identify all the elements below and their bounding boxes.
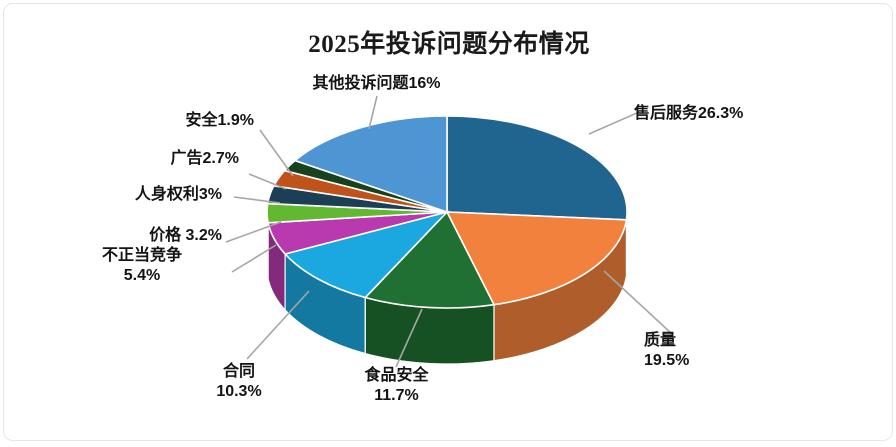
pie-slice-售后服务[interactable] bbox=[447, 116, 627, 220]
leader-line-after-sales bbox=[589, 112, 639, 134]
label-after-sales: 售后服务26.3% bbox=[634, 104, 743, 124]
label-food-safety-line1: 食品安全 bbox=[364, 367, 428, 384]
label-contract-line1: 合同 bbox=[223, 363, 255, 380]
label-unfair-competition-line1: 不正当竞争 bbox=[102, 247, 182, 264]
label-price: 价格 3.2% bbox=[42, 226, 222, 246]
label-personal-rights: 人身权利3% bbox=[32, 185, 222, 205]
label-food-safety: 食品安全11.7% bbox=[314, 366, 479, 405]
label-contract-line2: 10.3% bbox=[216, 383, 261, 400]
label-quality-line1: 质量 bbox=[644, 332, 676, 349]
label-advertising: 广告2.7% bbox=[64, 149, 239, 169]
chart-card: 2025年投诉问题分布情况 售后服务26.3% 质量19.5% 食品安全11.7… bbox=[3, 3, 893, 441]
leader-line-safety bbox=[260, 130, 293, 176]
label-other: 其他投诉问题16% bbox=[269, 74, 484, 94]
label-unfair-competition: 不正当竞争5.4% bbox=[62, 246, 222, 285]
label-quality-line2: 19.5% bbox=[644, 352, 689, 369]
label-safety: 安全1.9% bbox=[99, 111, 254, 131]
pie-3d-group bbox=[267, 116, 627, 364]
label-food-safety-line2: 11.7% bbox=[374, 387, 418, 404]
label-unfair-competition-line2: 5.4% bbox=[124, 267, 160, 284]
label-quality: 质量19.5% bbox=[644, 331, 689, 370]
label-contract: 合同10.3% bbox=[174, 362, 304, 401]
